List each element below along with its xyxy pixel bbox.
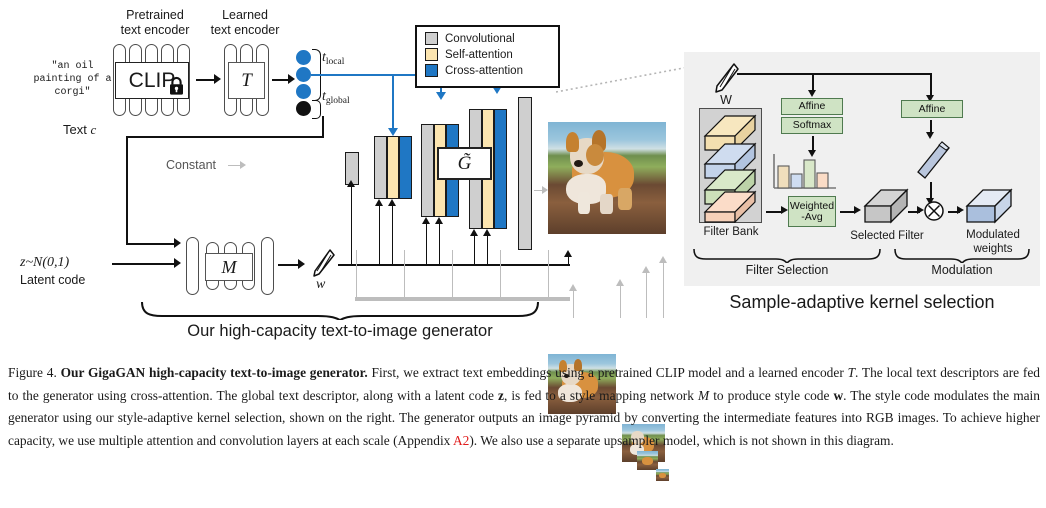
style-feed-line <box>392 205 393 264</box>
t-local-label: tlocal <box>322 50 344 67</box>
modulation-label: Modulation <box>893 263 1031 277</box>
style-code-pencil-icon <box>310 248 336 278</box>
cross-attention-block <box>399 136 412 199</box>
style-bus-corner <box>568 262 569 265</box>
arrow-head <box>174 258 181 268</box>
token-local <box>296 50 311 65</box>
style-feed-line <box>439 223 440 264</box>
generator-brace <box>140 300 540 320</box>
style-feed-line <box>474 235 475 264</box>
cross-attention-drop <box>392 74 394 130</box>
pyramid-arrow-line <box>620 285 621 318</box>
prompt-text: "an oil painting of a corgi" <box>20 60 125 99</box>
filter-bank-label: Filter Bank <box>689 226 773 238</box>
global-route-line <box>126 243 176 245</box>
mapping-lobe <box>186 237 199 295</box>
learned-encoder-symbol: T <box>241 70 252 92</box>
affine-right-box: Affine <box>901 100 963 118</box>
style-feed-line <box>426 223 427 264</box>
arrow-head-blue <box>436 92 446 100</box>
arrow-head <box>854 206 861 214</box>
arrow-head <box>808 90 816 97</box>
arrow-head <box>781 206 788 214</box>
w-route-line <box>930 73 932 97</box>
w-route-line <box>737 73 931 75</box>
modulated-weights-line1: Modulated <box>966 229 1020 241</box>
output-block <box>518 97 532 250</box>
latent-arrow-line <box>112 263 176 265</box>
figure-diagram: "an oil painting of a corgi" Text c Pret… <box>0 0 1046 355</box>
filter-bank-boxes <box>699 108 762 223</box>
arrow-head-gray <box>616 279 624 286</box>
token-global <box>296 101 311 116</box>
arrow-head <box>298 259 305 269</box>
legend-swatch-convolutional <box>425 32 438 45</box>
arrow-head-gray <box>569 284 577 291</box>
arrow-head-gray <box>659 256 667 263</box>
token-local <box>296 67 311 82</box>
modulated-weights-box <box>963 186 1015 228</box>
cross-attention-block <box>494 109 507 229</box>
pyramid-rail-vert <box>452 250 453 298</box>
style-feed-line <box>487 235 488 264</box>
latent-caption: Latent code <box>20 273 85 287</box>
legend-label-self-attention: Self-attention <box>445 49 513 61</box>
text-c-label: Text c <box>20 108 125 153</box>
text-c-symbol: c <box>90 122 96 137</box>
pyramid-rail-vert <box>548 250 549 298</box>
arrow-head <box>435 217 443 224</box>
generated-image-micro <box>656 469 669 481</box>
w-pencil-icon <box>713 62 741 94</box>
legend-item-self-attention: Self-attention <box>425 48 558 61</box>
pyramid-arrow-line <box>573 290 574 318</box>
caption-body-3: , is fed to a style mapping network <box>504 388 698 403</box>
pyramid-arrow-line <box>646 272 647 318</box>
arrow-line <box>278 264 300 266</box>
generated-image-large <box>548 122 666 234</box>
arrow-line <box>196 79 216 81</box>
affine-left-box: Affine <box>781 98 843 115</box>
caption-symbol-T: T <box>848 365 855 380</box>
arrow-head-gray <box>642 266 650 273</box>
arrow-head <box>422 217 430 224</box>
generated-image-tiny <box>637 451 658 470</box>
style-bus-line <box>338 264 570 266</box>
multiply-icon <box>923 200 945 222</box>
generator-box: G̃ <box>437 147 492 180</box>
mapping-lobe <box>261 237 274 295</box>
weighted-avg-label-line1: Weighted <box>790 201 834 212</box>
legend-label-convolutional: Convolutional <box>445 33 515 45</box>
figure-number: Figure 4. <box>8 365 57 380</box>
arrow-head <box>288 74 295 84</box>
pyramid-arrow-line <box>663 262 664 318</box>
pyramid-rail-vert <box>500 250 501 298</box>
t-local-subscript: local <box>326 57 344 67</box>
generator-brace-label: Our high-capacity text-to-image generato… <box>140 322 540 341</box>
arrow-head <box>564 250 572 257</box>
learned-encoder-box: T <box>228 62 265 99</box>
style-code-label: w <box>316 277 325 293</box>
pyramid-rail-vert <box>404 250 405 298</box>
mapping-symbol: M <box>222 257 237 278</box>
arrow-head <box>470 229 478 236</box>
legend-item-convolutional: Convolutional <box>425 32 558 45</box>
caption-body-6: ). We also use a separate upsampler mode… <box>469 433 893 448</box>
arrow-head <box>483 229 491 236</box>
mapping-box: M <box>205 253 253 281</box>
legend-swatch-self-attention <box>425 48 438 61</box>
arrow-head <box>347 180 355 187</box>
conv-block <box>421 124 434 217</box>
arrow-head <box>388 199 396 206</box>
caption-body-1: First, we extract text embeddings using … <box>368 365 848 380</box>
generator-symbol: G̃ <box>458 153 472 175</box>
appendix-link[interactable]: A2 <box>453 433 469 448</box>
legend-item-cross-attention: Cross-attention <box>425 64 558 77</box>
constant-label: Constant <box>166 158 216 172</box>
t-global-brace <box>312 100 321 119</box>
kernel-panel-title: Sample-adaptive kernel selection <box>684 292 1040 313</box>
softmax-bar-chart <box>768 152 840 196</box>
arrow-head-gray <box>240 161 246 169</box>
filter-selection-label: Filter Selection <box>692 263 882 277</box>
selected-filter-label: Selected Filter <box>843 230 931 242</box>
figure-title: Our GigaGAN high-capacity text-to-image … <box>61 365 368 380</box>
arrow-head <box>214 74 221 84</box>
weighted-avg-label-line2: -Avg <box>801 212 822 223</box>
caption-symbol-w: w <box>833 388 843 403</box>
global-route-line <box>126 136 324 138</box>
w-label: W <box>714 93 738 107</box>
learned-encoder-label: Learned text encoder <box>190 8 300 38</box>
lock-icon <box>168 76 185 96</box>
caption-symbol-M: M <box>698 388 709 403</box>
arrow-head-blue <box>388 128 398 136</box>
legend-label-cross-attention: Cross-attention <box>445 65 523 77</box>
t-global-subscript: global <box>326 96 350 106</box>
legend-swatch-cross-attention <box>425 64 438 77</box>
t-global-label: tglobal <box>322 89 350 106</box>
token-local <box>296 84 311 99</box>
weighted-avg-box: Weighted -Avg <box>788 196 836 227</box>
selected-filter-box <box>861 186 911 228</box>
modulation-brace <box>893 248 1031 263</box>
dotted-connector <box>556 64 696 94</box>
global-route-line <box>126 136 128 244</box>
conv-block <box>374 136 387 199</box>
pyramid-rail-vert <box>356 250 357 298</box>
filter-selection-brace <box>692 248 882 263</box>
self-attention-block <box>387 136 399 199</box>
latent-label: z~N(0,1) <box>20 255 69 271</box>
global-route-line <box>322 116 324 138</box>
style-feed-line <box>351 186 352 264</box>
arrow-head <box>174 238 181 248</box>
softmax-box: Softmax <box>781 117 843 134</box>
figure-caption: Figure 4. Our GigaGAN high-capacity text… <box>8 362 1040 452</box>
style-feed-line <box>379 205 380 264</box>
arrow-head <box>375 199 383 206</box>
text-c-text: Text <box>63 122 90 137</box>
caption-body-4: to produce style code <box>709 388 833 403</box>
style-vector-icon <box>912 140 952 182</box>
legend-box: Convolutional Self-attention Cross-atten… <box>415 25 560 88</box>
arrow-head <box>926 132 934 139</box>
